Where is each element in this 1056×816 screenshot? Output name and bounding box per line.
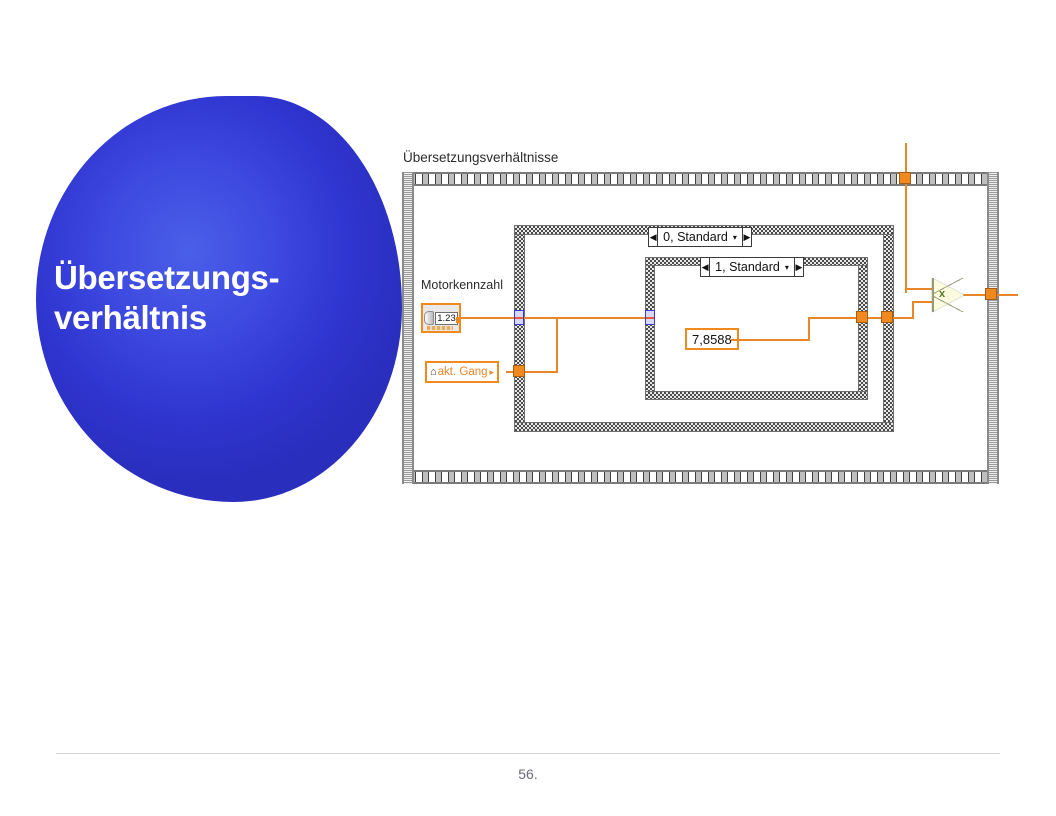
wire-constant-to-inner-tunnel (808, 317, 860, 319)
outer-case-right-border (883, 225, 894, 432)
terminal-base-decoration (427, 326, 453, 330)
case-selector-left-arrow-icon[interactable]: ◀ (649, 228, 658, 246)
play-arrow-icon: ▸ (490, 367, 495, 378)
multiply-operator-glyph: x (939, 288, 945, 300)
outer-case-bottom-border (514, 422, 894, 432)
wire-aktgang-to-inner-case (556, 317, 650, 319)
diagram-caption: Übersetzungsverhältnisse (403, 150, 558, 165)
inner-case-right-border (858, 257, 868, 400)
multiply-left-edge (932, 278, 934, 312)
case-selector-right-arrow-icon[interactable]: ▶ (794, 258, 803, 276)
outer-case-selector[interactable]: ◀ 0, Standard ▾ ▶ (648, 227, 752, 247)
wire-to-multiply-lower-input (912, 301, 934, 303)
outer-case-output-tunnel[interactable] (881, 311, 893, 323)
knob-icon (424, 311, 434, 325)
multiply-function-node[interactable]: x (932, 278, 964, 312)
inner-case-bottom-border (645, 391, 868, 400)
inner-case-selector-value: 1, Standard (710, 260, 785, 274)
wire-constant-horizontal (731, 339, 810, 341)
wire-case-out-vertical (912, 302, 914, 318)
numeric-control-terminal[interactable]: 1.23 (421, 303, 461, 333)
outer-loop-bottom-border (402, 470, 999, 484)
wire-to-multiply-upper-input (905, 288, 934, 290)
case-selector-right-arrow-icon[interactable]: ▶ (742, 228, 751, 246)
loop-top-tunnel[interactable] (899, 172, 911, 184)
numeric-control-value: 1.23 (435, 312, 458, 325)
wire-top-entry-vertical (905, 143, 907, 293)
case-selector-left-arrow-icon[interactable]: ◀ (701, 258, 710, 276)
outer-loop-left-border (402, 172, 414, 484)
wire-constant-vertical (808, 317, 810, 340)
page-number: 56. (0, 766, 1056, 782)
inner-case-output-tunnel[interactable] (856, 311, 868, 323)
labview-block-diagram: Übersetzungsverhältnisse ◀ 0, Standard ▾… (0, 0, 1056, 816)
outer-case-left-border (514, 225, 525, 432)
outer-loop-right-border (987, 172, 999, 484)
wire-case-out-horizontal (892, 317, 914, 319)
chevron-down-icon[interactable]: ▾ (785, 263, 794, 272)
inner-case-input-tunnel-left[interactable] (645, 310, 655, 325)
home-icon: ⌂ (430, 366, 437, 378)
loop-right-output-tunnel[interactable] (985, 288, 997, 300)
numeric-constant-value: 7,8588 (692, 332, 732, 347)
case-input-tunnel-left[interactable] (514, 310, 524, 325)
wire-aktgang-vertical (556, 318, 558, 372)
local-variable-akt-gang[interactable]: ⌂ akt. Gang ▸ (425, 361, 499, 383)
footer-divider (56, 753, 1000, 754)
terminal-output-nub (456, 317, 460, 323)
local-variable-label: akt. Gang (438, 366, 488, 378)
inner-case-left-border (645, 257, 655, 400)
case-tunnel-aktgang[interactable] (513, 365, 525, 377)
inner-case-selector[interactable]: ◀ 1, Standard ▾ ▶ (700, 257, 804, 277)
multiply-triangle-outline (932, 278, 964, 312)
motorkennzahl-label: Motorkennzahl (421, 278, 503, 292)
chevron-down-icon[interactable]: ▾ (733, 233, 742, 242)
wire-loop-output (997, 294, 1018, 296)
wire-motorkennzahl-to-case (461, 317, 514, 319)
outer-case-selector-value: 0, Standard (658, 230, 733, 244)
